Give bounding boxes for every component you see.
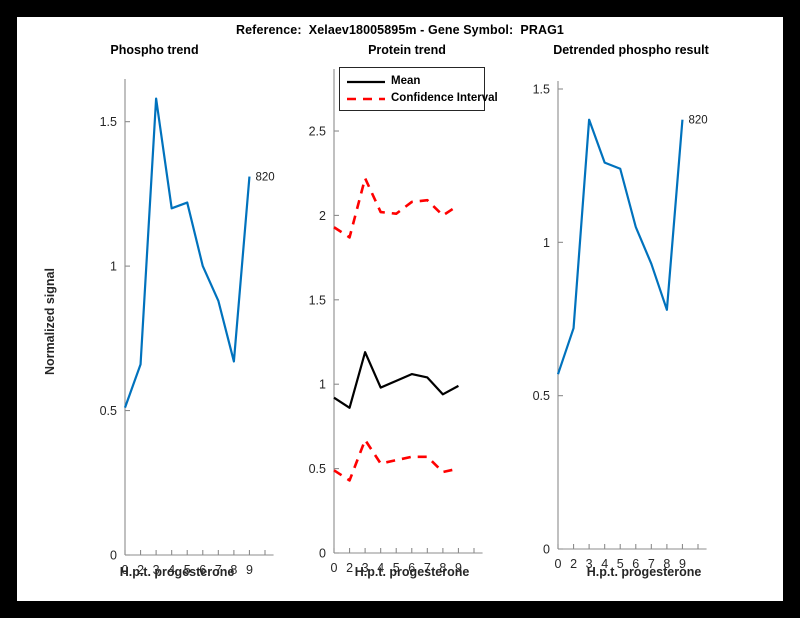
plot-area-phospho: 00.511.5023456789820 — [17, 17, 292, 601]
data-series-line — [558, 120, 682, 375]
y-tick-label: 0 — [543, 543, 550, 557]
x-tick-label: 2 — [570, 557, 577, 571]
x-tick-label: 7 — [424, 561, 431, 575]
y-tick-label: 0 — [319, 547, 326, 561]
x-tick-label: 6 — [199, 563, 206, 577]
data-series-line — [334, 352, 458, 408]
legend-label-mean: Mean — [391, 75, 420, 87]
figure-canvas: Reference: Xelaev18005895m - Gene Symbol… — [17, 17, 783, 601]
legend-protein-trend: Mean Confidence Interval — [339, 67, 485, 111]
x-tick-label: 4 — [168, 563, 175, 577]
data-series-line — [334, 440, 458, 481]
plot-area-detrended: 00.511.5023456789820 — [522, 17, 783, 601]
y-tick-label: 2 — [319, 209, 326, 223]
x-tick-label: 8 — [663, 557, 670, 571]
x-tick-label: 0 — [122, 563, 129, 577]
legend-line-mean-icon — [346, 75, 386, 87]
legend-item-confidence-interval: Confidence Interval — [340, 89, 484, 106]
y-tick-label: 0 — [110, 549, 117, 563]
x-tick-label: 0 — [331, 561, 338, 575]
x-tick-label: 2 — [137, 563, 144, 577]
x-tick-label: 4 — [377, 561, 384, 575]
subplot-phospho-trend: Phospho trend Normalized signal H.p.t. p… — [17, 17, 292, 601]
x-tick-label: 3 — [153, 563, 160, 577]
series-endpoint-label: 820 — [688, 115, 707, 127]
x-tick-label: 9 — [679, 557, 686, 571]
series-endpoint-label: 820 — [255, 172, 274, 184]
x-tick-label: 7 — [648, 557, 655, 571]
legend-label-confidence-interval: Confidence Interval — [391, 92, 498, 104]
y-tick-label: 1.5 — [533, 83, 550, 97]
x-tick-label: 5 — [617, 557, 624, 571]
y-tick-label: 0.5 — [533, 389, 550, 403]
y-tick-label: 1.5 — [309, 293, 326, 307]
y-tick-label: 1 — [319, 378, 326, 392]
x-tick-label: 4 — [601, 557, 608, 571]
y-tick-label: 1 — [543, 236, 550, 250]
y-tick-label: 0.5 — [309, 462, 326, 476]
x-tick-label: 6 — [408, 561, 415, 575]
y-tick-label: 0.5 — [100, 404, 117, 418]
x-tick-label: 3 — [362, 561, 369, 575]
y-tick-label: 2.5 — [309, 125, 326, 139]
x-tick-label: 7 — [215, 563, 222, 577]
legend-item-mean: Mean — [340, 72, 484, 89]
y-tick-label: 1.5 — [100, 115, 117, 129]
y-tick-label: 1 — [110, 260, 117, 274]
legend-line-confidence-interval-icon — [346, 92, 386, 104]
x-tick-label: 6 — [632, 557, 639, 571]
data-series-line — [125, 99, 249, 408]
figure-window: Reference: Xelaev18005895m - Gene Symbol… — [0, 0, 800, 618]
x-tick-label: 0 — [555, 557, 562, 571]
x-tick-label: 8 — [230, 563, 237, 577]
data-series-line — [334, 178, 458, 237]
subplot-detrended-phospho: Detrended phospho result H.p.t. progeste… — [522, 17, 783, 601]
x-tick-label: 8 — [439, 561, 446, 575]
x-tick-label: 5 — [184, 563, 191, 577]
subplot-protein-trend: Protein trend H.p.t. progesterone 00.511… — [292, 17, 522, 601]
x-tick-label: 2 — [346, 561, 353, 575]
x-tick-label: 5 — [393, 561, 400, 575]
x-tick-label: 9 — [455, 561, 462, 575]
x-tick-label: 9 — [246, 563, 253, 577]
x-tick-label: 3 — [586, 557, 593, 571]
